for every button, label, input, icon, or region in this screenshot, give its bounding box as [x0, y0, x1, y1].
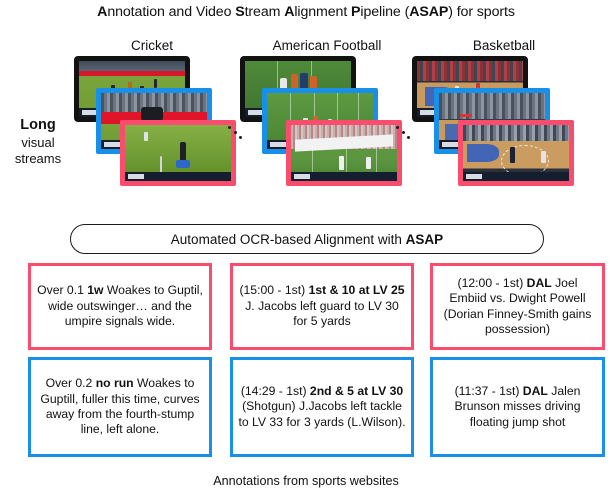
video-stack-cricket [74, 56, 246, 206]
long-visual-streams-label: Long visual streams [2, 116, 74, 168]
video-stack-basketball [412, 56, 584, 206]
annotation-box-basketball-pink[interactable]: (12:00 - 1st) DAL Joel Embiid vs. Dwight… [430, 263, 605, 350]
sport-heading-football: American Football [242, 38, 412, 53]
video-stack-football [240, 56, 412, 206]
automated-alignment-pill[interactable]: Automated OCR-based Alignment with ASAP [70, 224, 544, 254]
label-line-streams: streams [2, 151, 74, 168]
annotation-box-football-blue[interactable]: (14:29 - 1st) 2nd & 5 at LV 30 (Shotgun)… [230, 357, 414, 457]
video-frame-basketball-front[interactable] [458, 120, 574, 186]
annotation-box-basketball-blue[interactable]: (11:37 - 1st) DAL Jalen Brunson misses d… [430, 357, 605, 457]
annotation-box-cricket-pink[interactable]: Over 0.1 1w Woakes to Guptil, wide outsw… [28, 263, 212, 350]
page-title: Annotation and Video Stream Alignment Pi… [0, 4, 612, 20]
sport-heading-cricket: Cricket [78, 38, 226, 53]
video-frame-football-front[interactable] [286, 120, 402, 186]
label-line-long: Long [2, 116, 74, 135]
sport-heading-basketball: Basketball [418, 38, 590, 53]
video-frame-cricket-front[interactable] [120, 120, 236, 186]
annotation-box-football-pink[interactable]: (15:00 - 1st) 1st & 10 at LV 25 J. Jacob… [230, 263, 414, 350]
label-line-visual: visual [2, 135, 74, 152]
annotation-box-cricket-blue[interactable]: Over 0.2 no run Woakes to Guptill, fulle… [28, 357, 212, 457]
figure-caption: Annotations from sports websites [0, 474, 612, 488]
